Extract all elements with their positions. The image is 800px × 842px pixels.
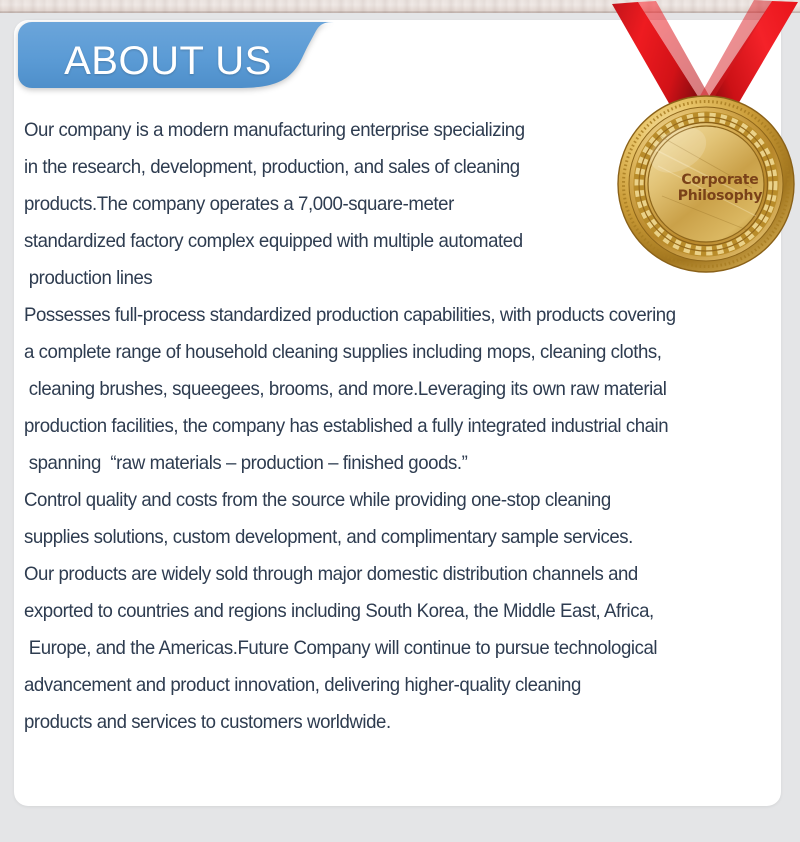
text-line: Control quality and costs from the sourc… bbox=[24, 482, 742, 519]
paragraph-3: Control quality and costs from the sourc… bbox=[24, 482, 776, 741]
about-us-banner: ABOUT US bbox=[18, 22, 342, 100]
text-line: advancement and product innovation, deli… bbox=[24, 667, 742, 704]
text-line: production facilities, the company has e… bbox=[24, 408, 742, 445]
text-line: cleaning brushes, squeegees, brooms, and… bbox=[24, 371, 742, 408]
text-line: a complete range of household cleaning s… bbox=[24, 334, 742, 371]
text-line: supplies solutions, custom development, … bbox=[24, 519, 742, 556]
text-line: Europe, and the Americas.Future Company … bbox=[24, 630, 742, 667]
text-line: spanning “raw materials – production – f… bbox=[24, 445, 742, 482]
corporate-philosophy-medal: Corporate Philosophy bbox=[612, 0, 800, 275]
text-line: products and services to customers world… bbox=[24, 704, 742, 741]
banner-shape bbox=[18, 22, 334, 88]
about-us-page: ABOUT US bbox=[0, 0, 800, 842]
text-line: Possesses full-process standardized prod… bbox=[24, 297, 742, 334]
text-line: Our products are widely sold through maj… bbox=[24, 556, 742, 593]
paragraph-2: Possesses full-process standardized prod… bbox=[24, 297, 776, 482]
text-line: exported to countries and regions includ… bbox=[24, 593, 742, 630]
